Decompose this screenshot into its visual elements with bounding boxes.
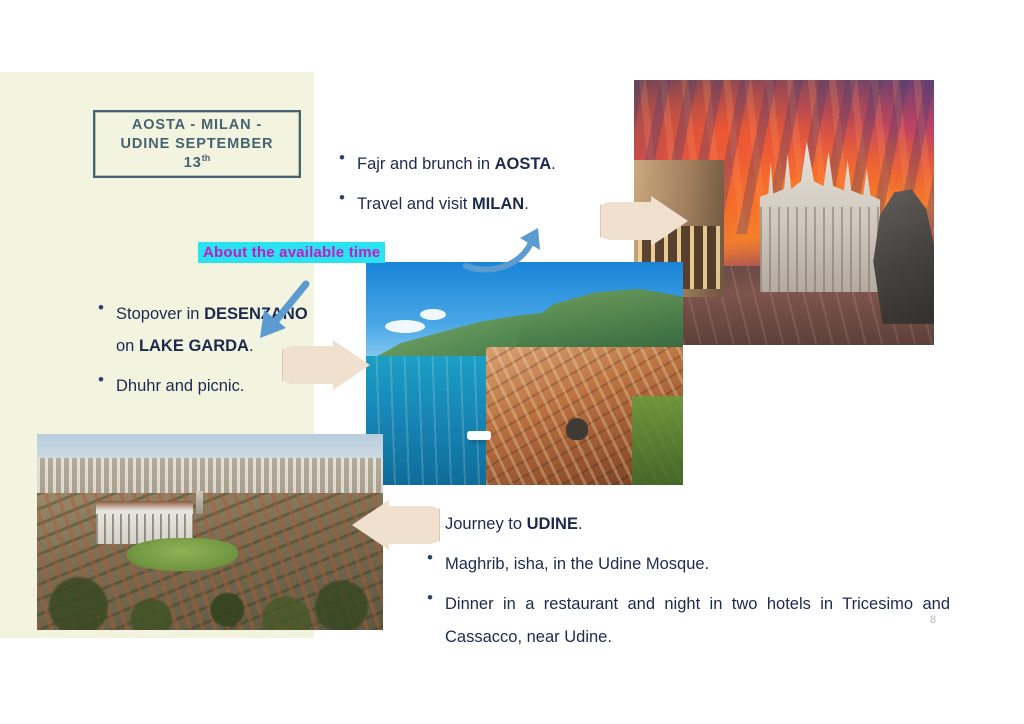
udine-bell-tower xyxy=(196,491,203,515)
title-line-2: UDINE SEPTEMBER xyxy=(121,136,274,152)
bullet-bold-2: LAKE GARDA xyxy=(139,337,249,355)
lake-garda-photo xyxy=(366,262,683,485)
bullet-tail: . xyxy=(551,155,556,173)
bullet-tail: . xyxy=(524,195,529,213)
page-number: 8 xyxy=(930,614,936,626)
list-item: Fajr and brunch in AOSTA. xyxy=(337,148,622,180)
garda-church-dome xyxy=(566,418,588,440)
list-item: Travel and visit MILAN. xyxy=(337,188,622,220)
highlight-label: About the available time xyxy=(198,242,385,263)
garda-cloud xyxy=(385,320,425,333)
bullet-text: Fajr and brunch in xyxy=(357,155,495,173)
bullets-bottom: Journey to UDINE. Maghrib, isha, in the … xyxy=(425,508,950,661)
bullet-bold: UDINE xyxy=(527,515,578,533)
bullet-bold: MILAN xyxy=(472,195,524,213)
garda-cloud xyxy=(420,309,446,320)
title-ordinal: th xyxy=(202,153,211,163)
title-box: AOSTA - MILAN - UDINE SEPTEMBER 13th xyxy=(93,110,301,178)
list-item: Dinner in a restaurant and night in two … xyxy=(425,588,950,652)
bullet-bold: AOSTA xyxy=(495,155,552,173)
bullet-text: Journey to xyxy=(445,515,527,533)
bullet-text: Travel and visit xyxy=(357,195,472,213)
garda-foreground-foliage xyxy=(632,396,683,485)
bullet-mid: on xyxy=(116,337,139,355)
udine-trees xyxy=(37,552,383,630)
bullets-top: Fajr and brunch in AOSTA. Travel and vis… xyxy=(337,148,622,228)
bullet-text: Dhuhr and picnic. xyxy=(116,377,244,395)
bullet-text: Stopover in xyxy=(116,305,204,323)
bullet-text: Dinner in a restaurant and night in two … xyxy=(445,595,950,645)
list-item: Maghrib, isha, in the Udine Mosque. xyxy=(425,548,950,580)
title-line-1: AOSTA - MILAN - xyxy=(132,117,262,133)
list-item: Journey to UDINE. xyxy=(425,508,950,540)
garda-ferry-boat xyxy=(467,431,491,440)
udine-photo xyxy=(37,434,383,630)
title-line-3: 13 xyxy=(184,154,202,170)
slide-canvas: AOSTA - MILAN - UDINE SEPTEMBER 13th xyxy=(0,0,1024,724)
arrow-curved-to-milan-icon xyxy=(460,220,560,275)
bullet-text: Maghrib, isha, in the Udine Mosque. xyxy=(445,555,709,573)
arrow-down-left-to-desenzano-icon xyxy=(248,278,318,348)
bullet-tail: . xyxy=(578,515,583,533)
page-title: AOSTA - MILAN - UDINE SEPTEMBER 13th xyxy=(121,116,274,171)
title-box-inner-border: AOSTA - MILAN - UDINE SEPTEMBER 13th xyxy=(95,112,299,176)
